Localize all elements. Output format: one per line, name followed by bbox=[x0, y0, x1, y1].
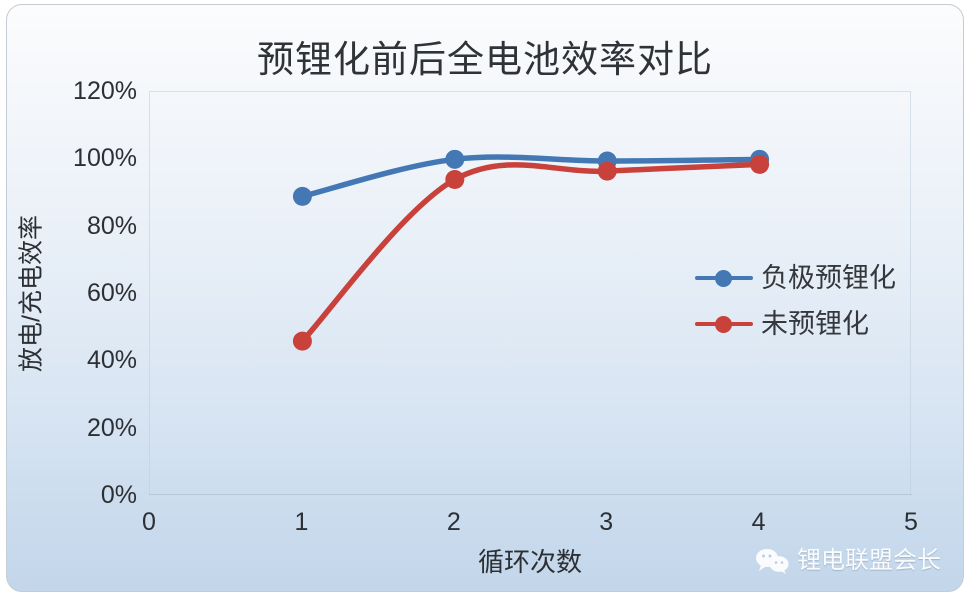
data-point bbox=[445, 170, 464, 189]
data-point bbox=[598, 162, 617, 181]
series-1 bbox=[293, 150, 769, 206]
y-axis-title: 放电/充电效率 bbox=[19, 194, 46, 394]
legend-marker-icon bbox=[695, 268, 753, 288]
legend-dot bbox=[715, 270, 732, 287]
data-point bbox=[445, 150, 464, 169]
chart-card: 预锂化前后全电池效率对比 0%20%40%60%80%100%120% 放电/充… bbox=[6, 4, 964, 592]
x-axis-line bbox=[149, 494, 912, 495]
data-point bbox=[293, 332, 312, 351]
y-axis-tick-label: 120% bbox=[7, 79, 137, 104]
watermark: 锂电联盟会长 bbox=[749, 539, 951, 583]
x-axis-tick-label: 2 bbox=[424, 508, 484, 536]
chart-legend: 负极预锂化未预锂化 bbox=[695, 255, 945, 347]
x-axis-tick-label: 4 bbox=[729, 508, 789, 536]
wechat-icon bbox=[755, 547, 789, 575]
x-axis-tick-label: 0 bbox=[119, 508, 179, 536]
legend-item-1[interactable]: 负极预锂化 bbox=[695, 255, 945, 301]
data-point bbox=[750, 155, 769, 174]
x-axis-tick-label: 5 bbox=[881, 508, 941, 536]
legend-dot bbox=[715, 316, 732, 333]
data-point bbox=[293, 187, 312, 206]
legend-label: 未预锂化 bbox=[761, 309, 869, 339]
watermark-label: 锂电联盟会长 bbox=[797, 547, 941, 575]
y-axis-tick-label: 0% bbox=[7, 483, 137, 508]
y-axis-tick-label: 100% bbox=[7, 146, 137, 171]
chart-title: 预锂化前后全电池效率对比 bbox=[7, 37, 963, 83]
x-axis-tick-label: 3 bbox=[576, 508, 636, 536]
y-axis-tick-label: 20% bbox=[7, 416, 137, 441]
legend-item-2[interactable]: 未预锂化 bbox=[695, 301, 945, 347]
series-line bbox=[302, 164, 759, 341]
legend-marker-icon bbox=[695, 314, 753, 334]
legend-label: 负极预锂化 bbox=[761, 263, 896, 293]
x-axis-tick-label: 1 bbox=[271, 508, 331, 536]
